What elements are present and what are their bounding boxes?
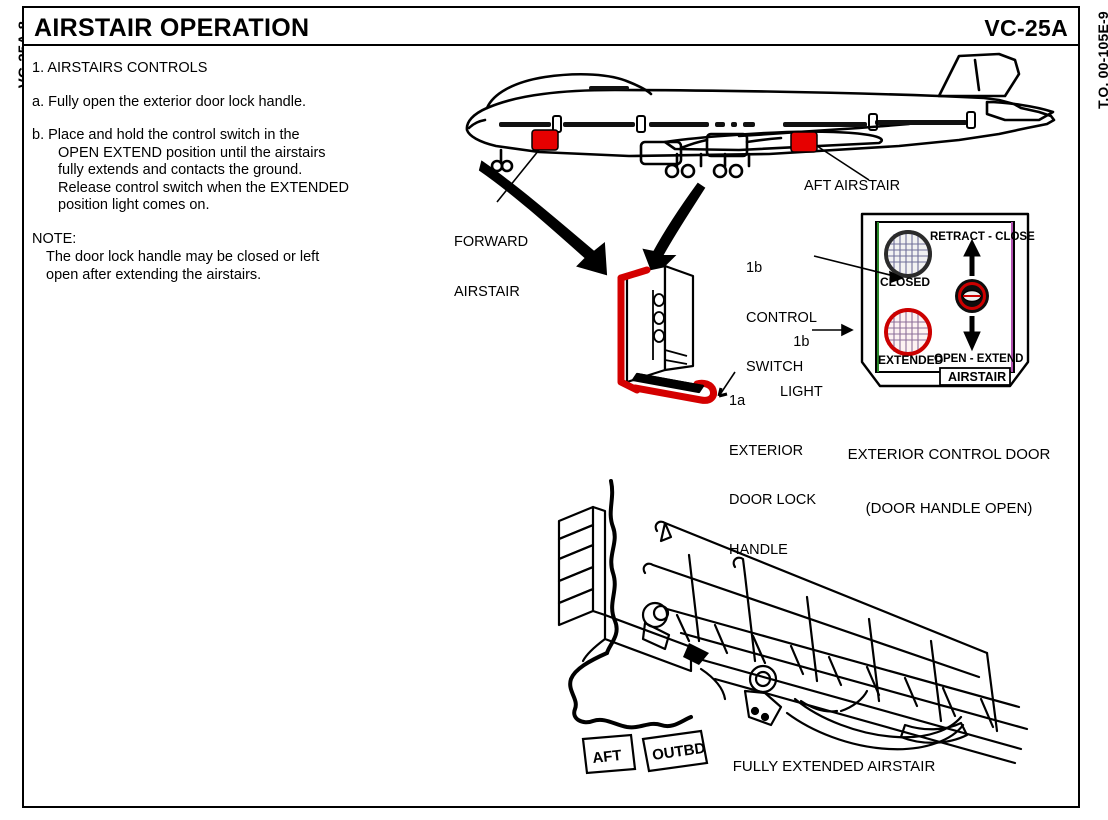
right-margin-identifier: T.O. 00-105E-9 [1095,5,1108,115]
manual-page: VC-25A.8 T.O. 00-105E-9 AIRSTAIR OPERATI… [0,0,1108,820]
note-block: NOTE: The door lock handle may be closed… [32,231,392,285]
header-divider [24,44,1078,46]
page-title: AIRSTAIR OPERATION [34,14,309,43]
step-b-marker: b. [32,127,44,143]
step-b: b. Place and hold the control switch in … [32,127,392,215]
step-b-line-4: Release control switch when the EXTENDED [54,180,392,198]
open-extend-label-text: OPEN - EXTEND [934,353,1023,365]
note-line-2: open after extending the airstairs. [32,267,392,285]
light-callout-number: 1b [780,334,823,351]
light-callout-line-1: LIGHT [780,384,823,401]
control-switch-callout-number: 1b [746,260,817,277]
extended-airstair-caption: FULLY EXTENDED AIRSTAIR [664,758,1004,776]
retract-close-label-text: RETRACT - CLOSE [930,231,1035,243]
procedure-text: 1. AIRSTAIRS CONTROLS a. Fully open the … [32,60,392,300]
section-title: AIRSTAIRS CONTROLS [47,60,207,76]
step-b-line-5: position light comes on. [54,197,392,215]
extended-airstair-illustration: AFT OUTBD [549,463,1029,773]
note-label: NOTE: [32,231,392,249]
section-number: 1. [32,60,44,76]
step-b-line-2: OPEN EXTEND position until the airstairs [54,145,392,163]
step-a-line-1: Fully open the exterior door lock handle… [48,94,306,110]
forward-airstair-door-marker [532,130,558,150]
handle-callout-line-1: EXTERIOR [729,443,816,460]
step-b-line-3: fully extends and contacts the ground. [54,162,392,180]
section-heading: 1. AIRSTAIRS CONTROLS [32,60,392,78]
step-a: a. Fully open the exterior door lock han… [32,94,392,112]
forward-airstair-callout-line-2: AIRSTAIR [454,284,528,301]
step-a-marker: a. [32,94,44,110]
step-b-line-1: Place and hold the control switch in the [48,127,299,143]
aircraft-model-label: VC-25A [984,15,1068,42]
note-line-1: The door lock handle may be closed or le… [32,249,392,267]
door-lock-handle-illustration [607,260,737,405]
control-door-caption-line-1: EXTERIOR CONTROL DOOR [824,446,1074,464]
indicator-light-callout: 1b LIGHT [780,301,823,433]
airstair-placard-text: AIRSTAIR [948,370,1006,384]
aft-tag-text: AFT [592,747,623,767]
control-switch-knob [955,279,989,313]
page-frame: AIRSTAIR OPERATION VC-25A 1. AIRSTAIRS C… [22,6,1080,808]
